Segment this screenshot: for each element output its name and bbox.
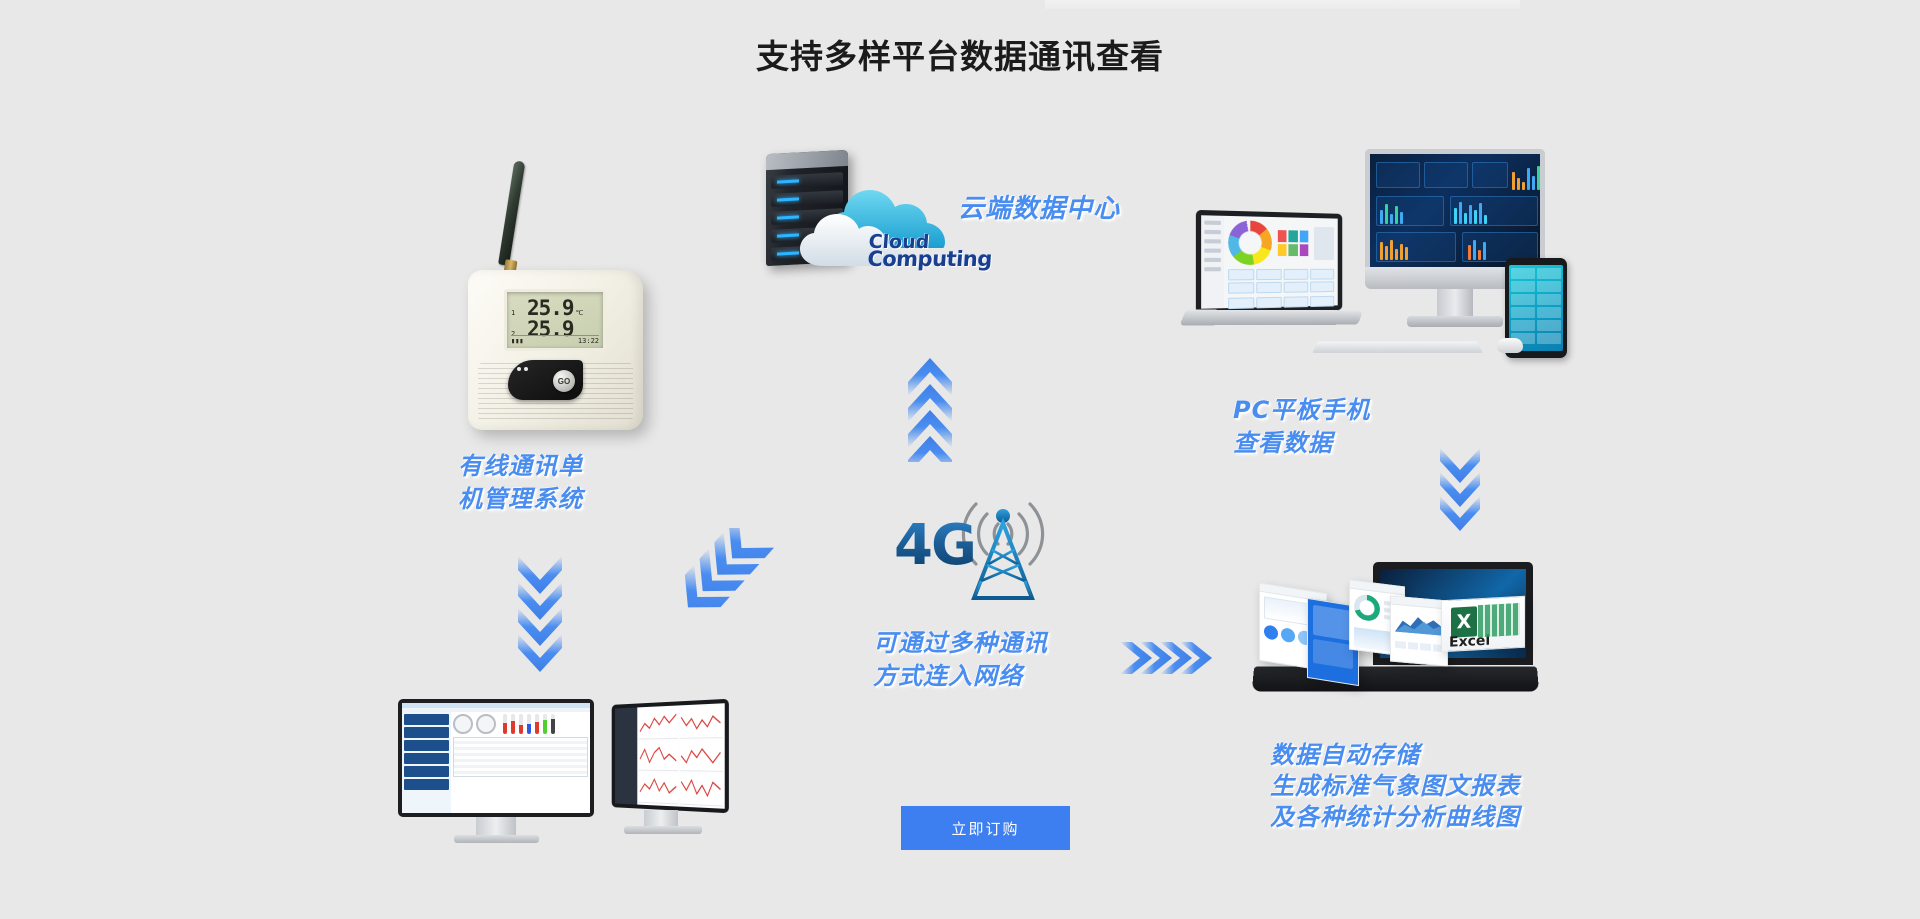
lcd-battery-indicator: ▮▮▮ [511, 337, 524, 345]
trend-chart-grid [637, 703, 725, 809]
thermometer-row [503, 714, 555, 734]
excel-spreadsheet-icon [1478, 603, 1520, 637]
laptop-dashboard [1224, 216, 1338, 308]
network-4g-graphic: 4G [880, 480, 1100, 610]
cloud-computing-line2: Computing [867, 251, 993, 268]
temperature-logger-device: 1 25.9 ℃ 2 25.9 ▮▮▮ 13:22 GO [448, 160, 678, 430]
trend-chart [639, 707, 678, 739]
trend-chart [680, 774, 723, 807]
dashboard-stat-tiles [1228, 269, 1334, 294]
monitor-angled-foot [624, 826, 702, 834]
report-laptop-graphic: X Excel [1245, 550, 1545, 730]
logger-housing: 1 25.9 ℃ 2 25.9 ▮▮▮ 13:22 GO [468, 270, 643, 430]
caption-cloud-center: 云端数据中心 [958, 193, 1120, 226]
floating-dashboard-card-4 [1390, 595, 1448, 666]
monitor-front-foot [454, 835, 539, 843]
trend-chart [680, 740, 723, 772]
monitor-front-screen [402, 703, 590, 813]
status-leds-icon [517, 367, 528, 371]
logger-lcd-display: 1 25.9 ℃ 2 25.9 ▮▮▮ 13:22 [504, 289, 606, 351]
dashboard-stat-tiles-row2 [1228, 296, 1334, 309]
dell-laptop-base [1252, 667, 1539, 692]
software-sidebar [402, 712, 451, 813]
software-data-table [453, 737, 588, 777]
arrow-diagonal-to-tower [676, 528, 806, 638]
imac-screen [1365, 149, 1545, 267]
monitor-angled-screen [615, 703, 725, 809]
order-now-button[interactable]: 立即订购 [901, 806, 1070, 850]
arrow-down-left-to-monitors [508, 556, 588, 676]
go-button[interactable]: GO [553, 370, 575, 392]
lcd-clock: 13:22 [578, 337, 599, 345]
lcd-channel1-label: 1 [511, 309, 520, 317]
trend-chart [639, 773, 678, 805]
caption-network-access: 可通过多种通讯 方式连入网络 [873, 627, 1048, 693]
caption-wired-system: 有线通讯单 机管理系统 [458, 450, 583, 516]
mouse [1497, 338, 1523, 353]
caption-pc-tablet-phone: PC平板手机 查看数据 [1233, 394, 1370, 460]
imac-foot [1407, 316, 1503, 327]
caption-data-storage: 数据自动存储 生成标准气象图文报表 及各种统计分析曲线图 [1270, 740, 1520, 833]
trend-chart [639, 740, 678, 771]
arrow-up-to-cloud [898, 342, 978, 462]
dashboard-gauge-chart [1228, 220, 1272, 265]
donut-chart [1354, 593, 1380, 622]
keyboard [1312, 341, 1482, 353]
gauge-icon-2 [476, 714, 496, 734]
imac-stand [1437, 289, 1473, 319]
cloud-data-center-graphic: Cloud Computing [756, 148, 986, 288]
desktop-software-monitors [392, 690, 742, 870]
monitor-angled [612, 699, 729, 813]
4g-label: 4G [894, 518, 975, 574]
excel-logo-card: X Excel [1441, 596, 1525, 652]
infographic-canvas: 支持多样平台数据通讯查看 1 25.9 ℃ 2 25.9 ▮▮▮ 13:22 [0, 0, 1920, 919]
monitor-front-stand [476, 817, 516, 837]
gauge-icon-1 [453, 714, 473, 734]
software-main-area [451, 712, 590, 813]
lcd-channel1-unit: ℃ [576, 309, 584, 317]
trend-chart [680, 705, 723, 738]
laptop-base [1180, 310, 1364, 326]
page-title: 支持多样平台数据通讯查看 [0, 30, 1920, 78]
antenna-icon [498, 160, 525, 265]
pc-tablet-phone-graphic [1185, 140, 1605, 390]
laptop-sidebar [1201, 215, 1224, 309]
area-chart [1395, 609, 1443, 637]
logger-sensor-panel: GO [508, 360, 583, 400]
cloud-computing-label: Cloud Computing [867, 234, 994, 268]
arrow-down-right-to-laptop [1430, 448, 1510, 558]
laptop-screen [1196, 210, 1342, 314]
arrow-right-to-laptop [1118, 632, 1228, 688]
monitor-front [398, 699, 594, 817]
top-highlight-band [1045, 0, 1520, 9]
